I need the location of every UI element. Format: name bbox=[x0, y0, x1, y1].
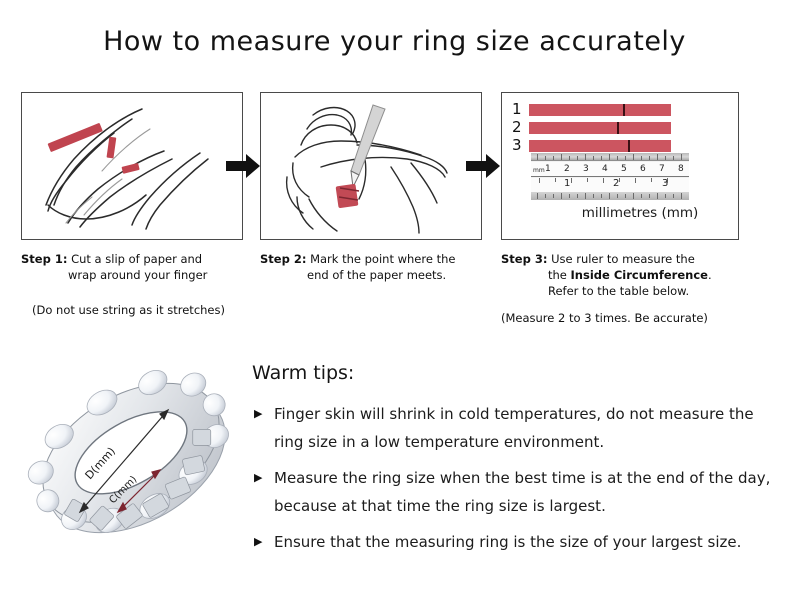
triangle-bullet-icon: ▶ bbox=[254, 528, 262, 556]
step-1-column: Step 1: Cut a slip of paper and wrap aro… bbox=[21, 92, 243, 318]
ring-figure: D(mm) C(mm) bbox=[18, 352, 250, 564]
hand-with-paper-illustration bbox=[22, 93, 242, 239]
ruler-centimetre-scale: mm 1 2 3 4 5 6 7 8 bbox=[531, 162, 689, 177]
step-2-line-2: end of the paper meets. bbox=[260, 267, 482, 283]
step-3-line-3: Refer to the table below. bbox=[501, 283, 739, 299]
ruler-inch-label: 1 bbox=[564, 179, 570, 189]
tip-item: ▶ Measure the ring size when the best ti… bbox=[252, 464, 772, 520]
arrow-step2-to-step3-icon bbox=[466, 153, 500, 179]
step-1-caption: Step 1: Cut a slip of paper and wrap aro… bbox=[21, 251, 243, 283]
step-3-note: (Measure 2 to 3 times. Be accurate) bbox=[501, 311, 739, 326]
step-2-column: Step 2: Mark the point where the end of … bbox=[260, 92, 482, 283]
tip-item: ▶ Ensure that the measuring ring is the … bbox=[252, 528, 772, 556]
ruler-cm-label: 8 bbox=[678, 164, 684, 174]
ruler-cm-label: 2 bbox=[564, 164, 570, 174]
strip-mark bbox=[628, 140, 630, 152]
step-2-caption: Step 2: Mark the point where the end of … bbox=[260, 251, 482, 283]
step-3-label: Step 3: bbox=[501, 252, 547, 266]
step-2-panel bbox=[260, 92, 482, 240]
warm-tips-section: Warm tips: ▶ Finger skin will shrink in … bbox=[252, 362, 772, 564]
inside-circumference-emphasis: Inside Circumference bbox=[571, 268, 708, 282]
ruler-cm-label: 4 bbox=[602, 164, 608, 174]
ruler-origin-label: mm bbox=[533, 166, 545, 176]
step-3-line-1: Use ruler to measure the bbox=[551, 252, 695, 266]
step-2-line-1: Mark the point where the bbox=[310, 252, 455, 266]
measured-strip-row: 3 bbox=[512, 139, 671, 152]
strip-bar bbox=[529, 122, 671, 134]
ruler-graphic: mm 1 2 3 4 5 6 7 8 bbox=[531, 153, 689, 200]
strip-number: 3 bbox=[512, 139, 529, 152]
strip-bar bbox=[529, 104, 671, 116]
strip-mark bbox=[623, 104, 625, 116]
step-1-line-2: wrap around your finger bbox=[21, 267, 243, 283]
ruler-unit-caption: millimetres (mm) bbox=[502, 205, 738, 221]
tip-text: Measure the ring size when the best time… bbox=[274, 469, 770, 515]
ruler-cm-label: 6 bbox=[640, 164, 646, 174]
strip-number: 2 bbox=[512, 121, 529, 134]
strip-bar bbox=[529, 140, 671, 152]
ruler-inch-scale: 1 2 3 bbox=[531, 178, 689, 192]
strip-number: 1 bbox=[512, 103, 529, 116]
step-3-line-2: the Inside Circumference. bbox=[501, 267, 739, 283]
step-1-panel bbox=[21, 92, 243, 240]
step-3-column: 1 2 3 bbox=[501, 92, 739, 326]
step-3-line-2-pre: the bbox=[548, 268, 571, 282]
ruler-inch-label: 2 bbox=[613, 179, 619, 189]
tip-item: ▶ Finger skin will shrink in cold temper… bbox=[252, 400, 772, 456]
page-title: How to measure your ring size accurately bbox=[0, 26, 789, 57]
ruler-cm-label: 5 bbox=[621, 164, 627, 174]
arrow-step1-to-step2-icon bbox=[226, 153, 260, 179]
triangle-bullet-icon: ▶ bbox=[254, 400, 262, 428]
eternity-ring-illustration: D(mm) C(mm) bbox=[18, 352, 250, 564]
step-1-note: (Do not use string as it stretches) bbox=[21, 303, 243, 318]
hand-marking-paper-illustration bbox=[261, 93, 481, 239]
paper-slip-red-ring bbox=[336, 184, 359, 209]
step-2-label: Step 2: bbox=[260, 252, 306, 266]
measured-strip-row: 2 bbox=[512, 121, 671, 134]
step-3-caption: Step 3: Use ruler to measure the the Ins… bbox=[501, 251, 739, 299]
step-3-panel: 1 2 3 bbox=[501, 92, 739, 240]
tip-text: Finger skin will shrink in cold temperat… bbox=[274, 405, 754, 451]
ruler-top-edge bbox=[531, 153, 689, 161]
step-1-line-1: Cut a slip of paper and bbox=[71, 252, 202, 266]
warm-tips-heading: Warm tips: bbox=[252, 362, 772, 384]
strip-mark bbox=[617, 122, 619, 134]
steps-row: Step 1: Cut a slip of paper and wrap aro… bbox=[0, 92, 789, 337]
ruler-cm-label: 1 bbox=[545, 164, 551, 174]
ruler-cm-label: 3 bbox=[583, 164, 589, 174]
step-1-label: Step 1: bbox=[21, 252, 67, 266]
triangle-bullet-icon: ▶ bbox=[254, 464, 262, 492]
ruler-cm-label: 7 bbox=[659, 164, 665, 174]
measured-strip-row: 1 bbox=[512, 103, 671, 116]
tip-text: Ensure that the measuring ring is the si… bbox=[274, 533, 741, 551]
ruler-bottom-edge bbox=[531, 192, 689, 200]
step-3-line-2-post: . bbox=[708, 268, 712, 282]
ruler-inch-label: 3 bbox=[662, 179, 668, 189]
